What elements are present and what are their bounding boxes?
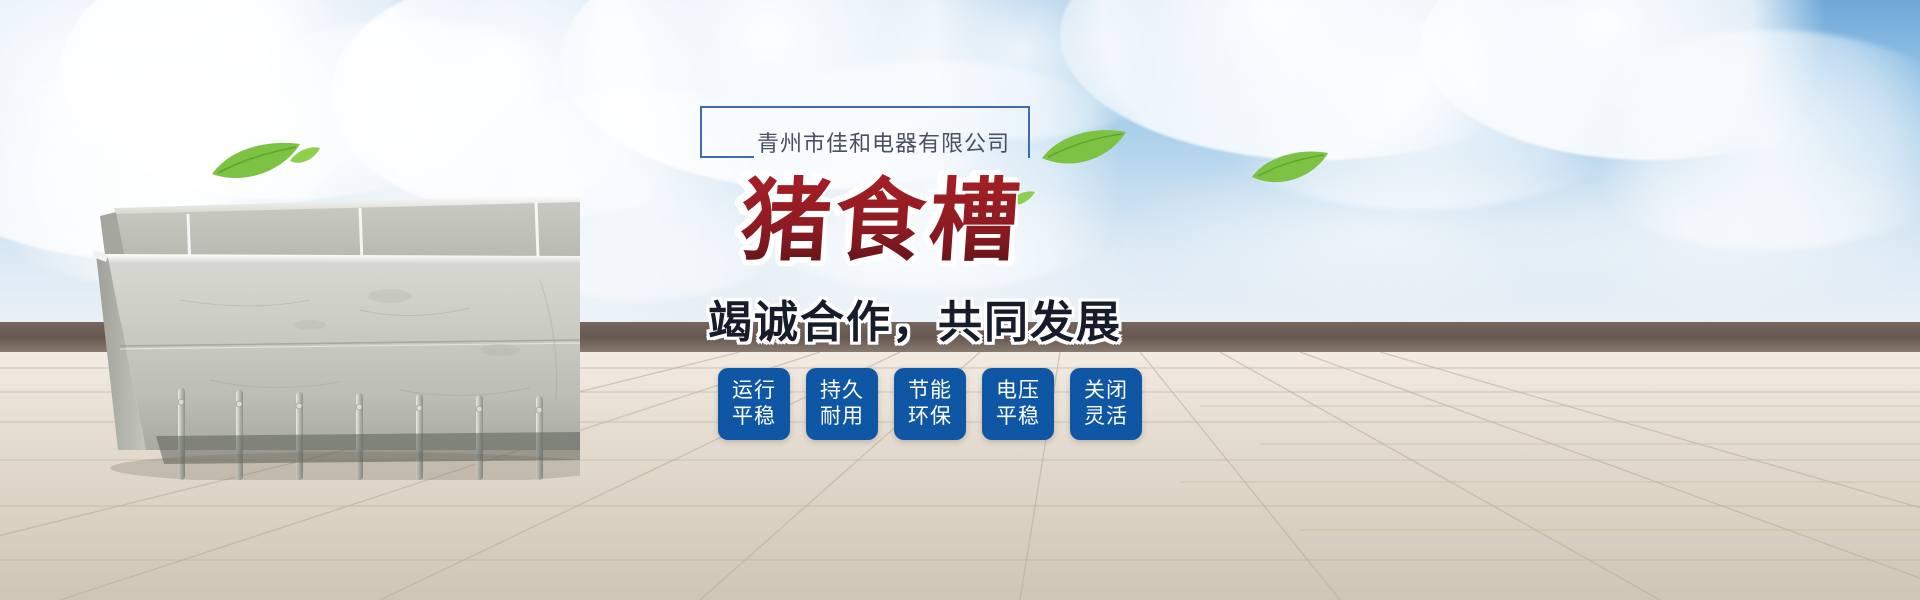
- badge-line-1: 节能: [908, 378, 952, 404]
- product-banner: 青州市佳和电器有限公司 猪食槽 猪食槽 竭诚合作，共同发展: [0, 0, 1920, 600]
- feature-badge[interactable]: 运行 平稳: [718, 368, 790, 440]
- badge-line-2: 环保: [908, 404, 952, 430]
- badge-line-2: 灵活: [1084, 404, 1128, 430]
- company-name: 青州市佳和电器有限公司: [757, 126, 1010, 158]
- feature-badge[interactable]: 电压 平稳: [982, 368, 1054, 440]
- badge-line-1: 电压: [996, 378, 1040, 404]
- feature-badge[interactable]: 关闭 灵活: [1070, 368, 1142, 440]
- badge-line-2: 耐用: [820, 404, 864, 430]
- leaf-icon: [1250, 150, 1330, 190]
- main-title-text: 猪食槽: [737, 170, 1026, 274]
- feature-badge-list: 运行 平稳 持久 耐用 节能 环保 电压 平稳 关闭 灵活: [718, 368, 1142, 440]
- feature-badge[interactable]: 节能 环保: [894, 368, 966, 440]
- badge-line-1: 关闭: [1084, 378, 1128, 404]
- badge-line-2: 平稳: [732, 404, 776, 430]
- steel-feeder-trough-image: [60, 150, 580, 480]
- main-title: 猪食槽 猪食槽: [720, 170, 1040, 280]
- leaf-icon: [288, 146, 322, 166]
- badge-line-1: 持久: [820, 378, 864, 404]
- feature-badge[interactable]: 持久 耐用: [806, 368, 878, 440]
- leaf-icon: [1040, 128, 1128, 172]
- badge-line-1: 运行: [732, 378, 776, 404]
- slogan-subtitle: 竭诚合作，共同发展: [708, 286, 1122, 350]
- badge-line-2: 平稳: [996, 404, 1040, 430]
